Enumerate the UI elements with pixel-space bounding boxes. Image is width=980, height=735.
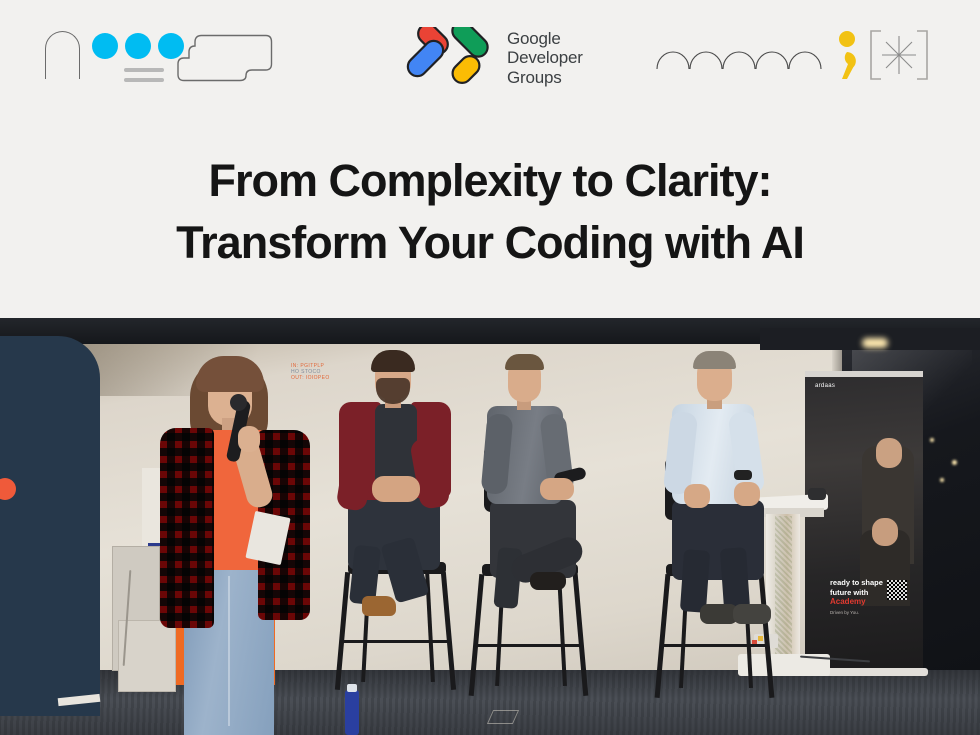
banner-top-rail: [805, 371, 923, 377]
qr-code: [887, 580, 907, 600]
header-section: Google Developer Groups: [0, 0, 980, 318]
abstract-decor-right: [655, 26, 935, 92]
outlet-indicator-yellow: [758, 636, 763, 641]
logo-row: Google Developer Groups: [0, 0, 980, 115]
gdg-mark-icon: [403, 27, 495, 89]
five-arcs-icon: [655, 35, 825, 76]
blue-circle-icon: [125, 33, 151, 59]
navy-wall-panel: [0, 336, 100, 716]
page-title: From Complexity to Clarity: Transform Yo…: [0, 150, 980, 274]
water-bottle-cap: [347, 684, 357, 692]
ceiling-light-glare: [862, 338, 888, 348]
water-bottle: [345, 690, 359, 735]
banner-headline: ready to shape future with: [830, 578, 883, 597]
panel-discussion-photo: IN: PGITPLP HO STOCO OUT: IOIOPEO ardaas…: [0, 318, 980, 735]
gdg-text-line-1: Google: [507, 29, 583, 49]
banner-person-head: [876, 438, 902, 468]
stepped-rounded-outline-icon: [175, 34, 273, 82]
city-light: [952, 460, 957, 465]
banner-person-head: [872, 518, 898, 546]
abstract-decor-left: [40, 24, 300, 94]
banner-brand-text: ardaas: [815, 383, 835, 389]
equals-bar-icon: [124, 78, 164, 82]
title-line-1: From Complexity to Clarity:: [0, 150, 980, 212]
banner-headline-line-2: future with: [830, 588, 883, 598]
banner-tagline: Driven by You.: [830, 610, 859, 615]
podium-speaker-box: [808, 488, 826, 500]
event-banner-page: Google Developer Groups: [0, 0, 980, 735]
city-light: [930, 438, 934, 442]
gdg-logo-text: Google Developer Groups: [507, 29, 583, 88]
wall-projected-text: IN: PGITPLP HO STOCO OUT: IOIOPEO: [291, 363, 351, 381]
arch-outline-icon: [45, 31, 80, 79]
title-line-2: Transform Your Coding with AI: [0, 212, 980, 274]
blue-circle-icon: [92, 33, 118, 59]
gdg-text-line-3: Groups: [507, 68, 583, 88]
equals-bar-icon: [124, 68, 164, 72]
banner-headline-line-1: ready to shape: [830, 578, 883, 588]
bracketed-asterisk-icon: [868, 29, 930, 81]
semicolon-icon: [835, 30, 861, 80]
wall-text-line-3: OUT: IOIOPEO: [291, 375, 351, 381]
google-developer-groups-logo: Google Developer Groups: [403, 25, 603, 91]
banner-academy-text: Academy: [830, 597, 866, 606]
gdg-text-line-2: Developer: [507, 48, 583, 68]
city-light: [940, 478, 944, 482]
